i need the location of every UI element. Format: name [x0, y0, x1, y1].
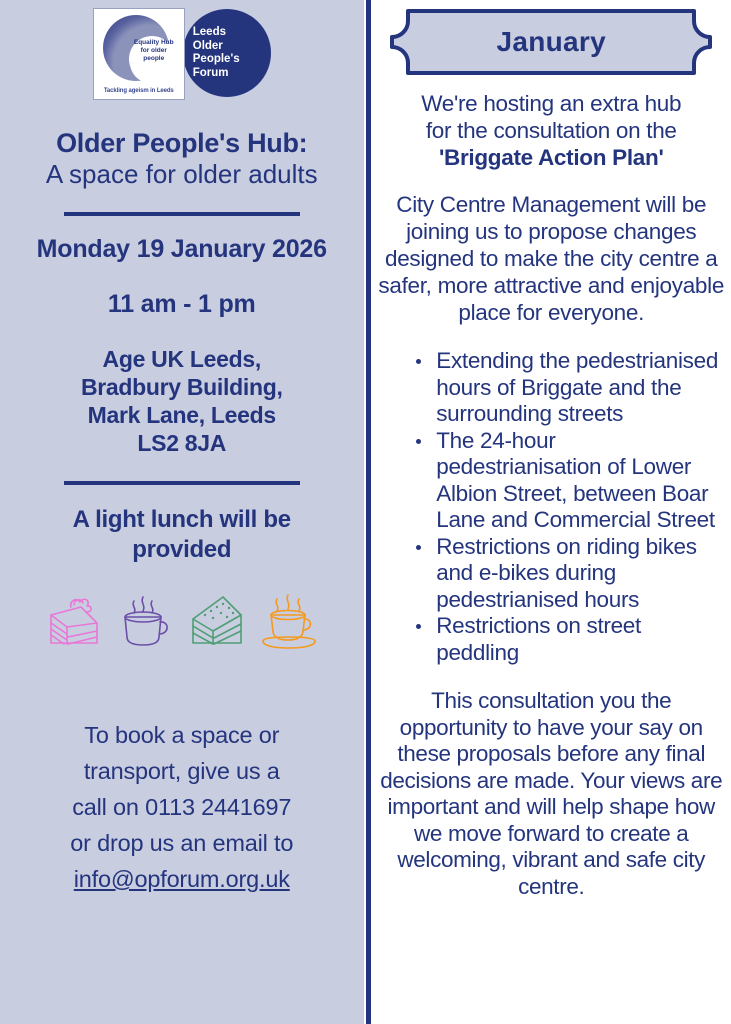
banner-month-label: January	[386, 8, 716, 76]
list-item: Extending the pedestrianised hours of Br…	[414, 348, 724, 428]
cake-slice-green-icon	[185, 585, 251, 651]
poster: Equality Hub for older people Tackling a…	[0, 0, 731, 1024]
column-divider	[364, 0, 372, 1024]
logo-row: Equality Hub for older people Tackling a…	[93, 8, 271, 104]
teacup-orange-icon	[257, 585, 323, 651]
equality-hub-tagline: Tackling ageism in Leeds	[94, 88, 184, 94]
intro-line-1: We're hosting an extra hub	[380, 90, 722, 117]
title-subline: A space for older adults	[22, 159, 342, 190]
page-title: Older People's Hub: A space for older ad…	[22, 128, 342, 190]
plan-name: 'Briggate Action Plan'	[380, 144, 722, 171]
proposals-list: Extending the pedestrianised hours of Br…	[378, 348, 724, 666]
left-column: Equality Hub for older people Tackling a…	[0, 0, 364, 1024]
divider-rule-bottom	[64, 481, 300, 485]
description-paragraph: City Centre Management will be joining u…	[378, 191, 724, 326]
right-column: January We're hosting an extra hub for t…	[371, 0, 731, 1024]
equality-hub-logo: Equality Hub for older people Tackling a…	[93, 8, 185, 100]
event-address: Age UK Leeds, Bradbury Building, Mark La…	[81, 345, 283, 457]
title-bold-line: Older People's Hub:	[22, 128, 342, 159]
intro-block: We're hosting an extra hub for the consu…	[380, 90, 722, 171]
refreshment-icons	[41, 581, 323, 651]
contact-block: To book a space or transport, give us a …	[27, 681, 337, 897]
divider-rule-top	[64, 212, 300, 216]
cake-slice-pink-icon	[41, 585, 107, 651]
contact-email-link[interactable]: info@opforum.org.uk	[74, 866, 290, 892]
contact-text: To book a space or transport, give us a …	[70, 722, 293, 856]
event-date: Monday 19 January 2026	[37, 234, 327, 265]
leeds-older-peoples-forum-logo: Leeds Older People's Forum	[183, 9, 271, 97]
consultation-outro: This consultation you the opportunity to…	[375, 688, 727, 900]
list-item: The 24-hour pedestrianisation of Lower A…	[414, 428, 724, 534]
event-time: 11 am - 1 pm	[108, 289, 256, 319]
lunch-note: A light lunch will be provided	[32, 505, 332, 565]
equality-hub-logo-text: Equality Hub for older people	[130, 39, 178, 64]
lopf-logo-text: Leeds Older People's Forum	[193, 26, 240, 80]
list-item: Restrictions on street peddling	[414, 613, 724, 666]
list-item: Restrictions on riding bikes and e-bikes…	[414, 534, 724, 614]
intro-line-2: for the consultation on the	[380, 117, 722, 144]
coffee-mug-purple-icon	[113, 585, 179, 651]
month-banner: January	[386, 8, 716, 76]
